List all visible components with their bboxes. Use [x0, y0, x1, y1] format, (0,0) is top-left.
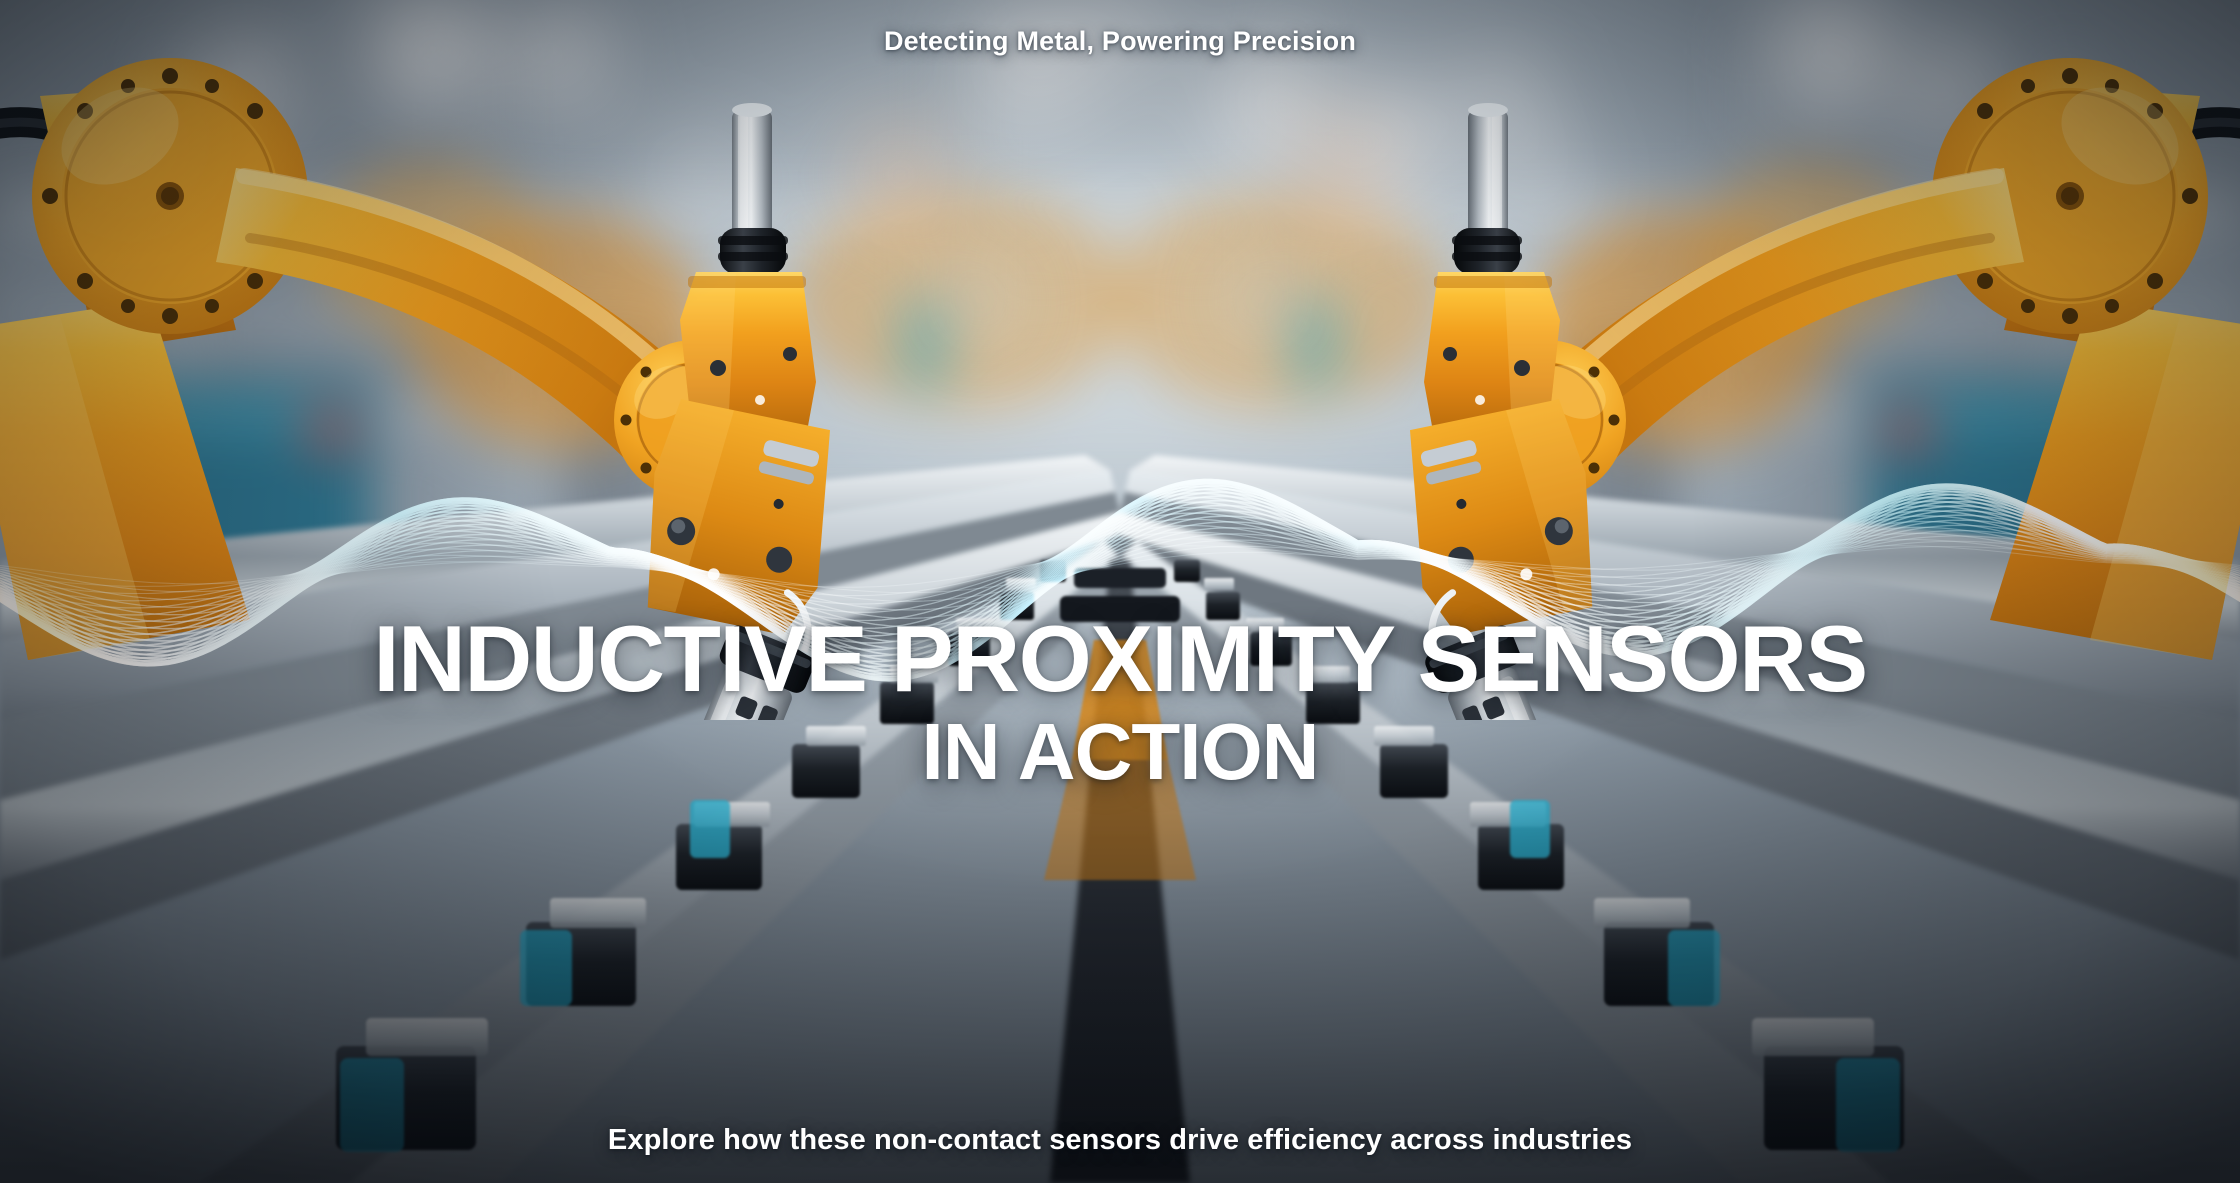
poster-title-line-1: INDUCTIVE PROXIMITY SENSORS	[0, 612, 2240, 706]
poster-subtitle: Explore how these non-contact sensors dr…	[0, 1124, 2240, 1157]
poster-text: Detecting Metal, Powering Precision INDU…	[0, 0, 2240, 1183]
poster-headline: INDUCTIVE PROXIMITY SENSORS IN ACTION	[0, 612, 2240, 792]
poster-canvas: Detecting Metal, Powering Precision INDU…	[0, 0, 2240, 1183]
poster-title-line-2: IN ACTION	[0, 712, 2240, 792]
poster-tagline: Detecting Metal, Powering Precision	[0, 26, 2240, 57]
